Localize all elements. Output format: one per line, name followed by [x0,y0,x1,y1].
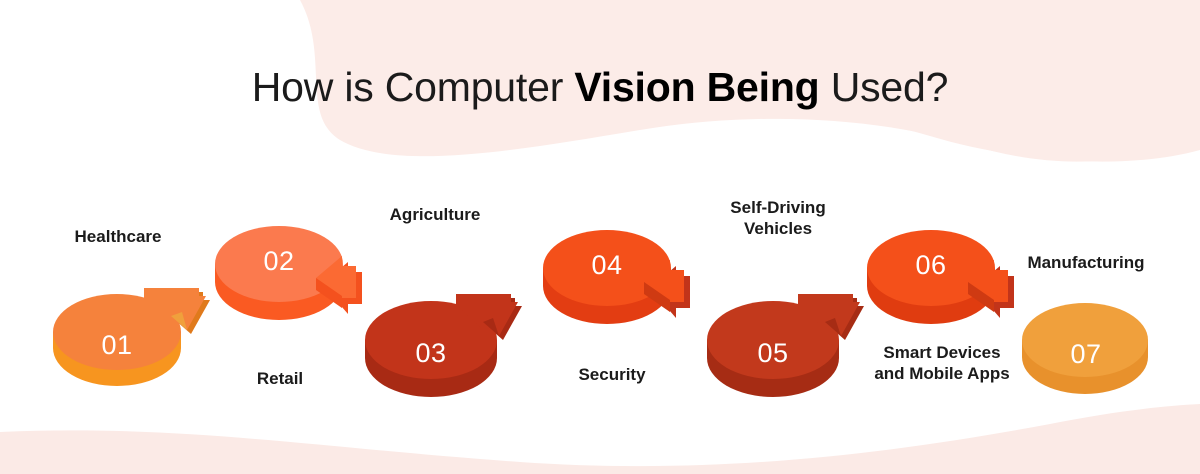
disc-07: 07 [1018,300,1158,400]
step-03-label: Agriculture [350,204,520,225]
infographic-canvas: How is Computer Vision Being Used? 01 He… [0,0,1200,474]
disc-07-top [1022,303,1148,377]
disc-01: 01 [48,286,213,396]
step-05-label: Self-Driving Vehicles [698,197,858,239]
steps-row: 01 Healthcare 02 Retail [0,0,1200,474]
disc-04: 04 [538,222,703,352]
disc-05: 05 [702,292,872,402]
disc-02: 02 [210,218,375,348]
disc-06: 06 [862,222,1027,352]
step-06-label: Smart Devices and Mobile Apps [852,342,1032,384]
step-02-label: Retail [200,368,360,389]
step-04-label: Security [532,364,692,385]
step-07-label: Manufacturing [1001,252,1171,273]
disc-03: 03 [360,292,530,402]
step-01-label: Healthcare [38,226,198,247]
